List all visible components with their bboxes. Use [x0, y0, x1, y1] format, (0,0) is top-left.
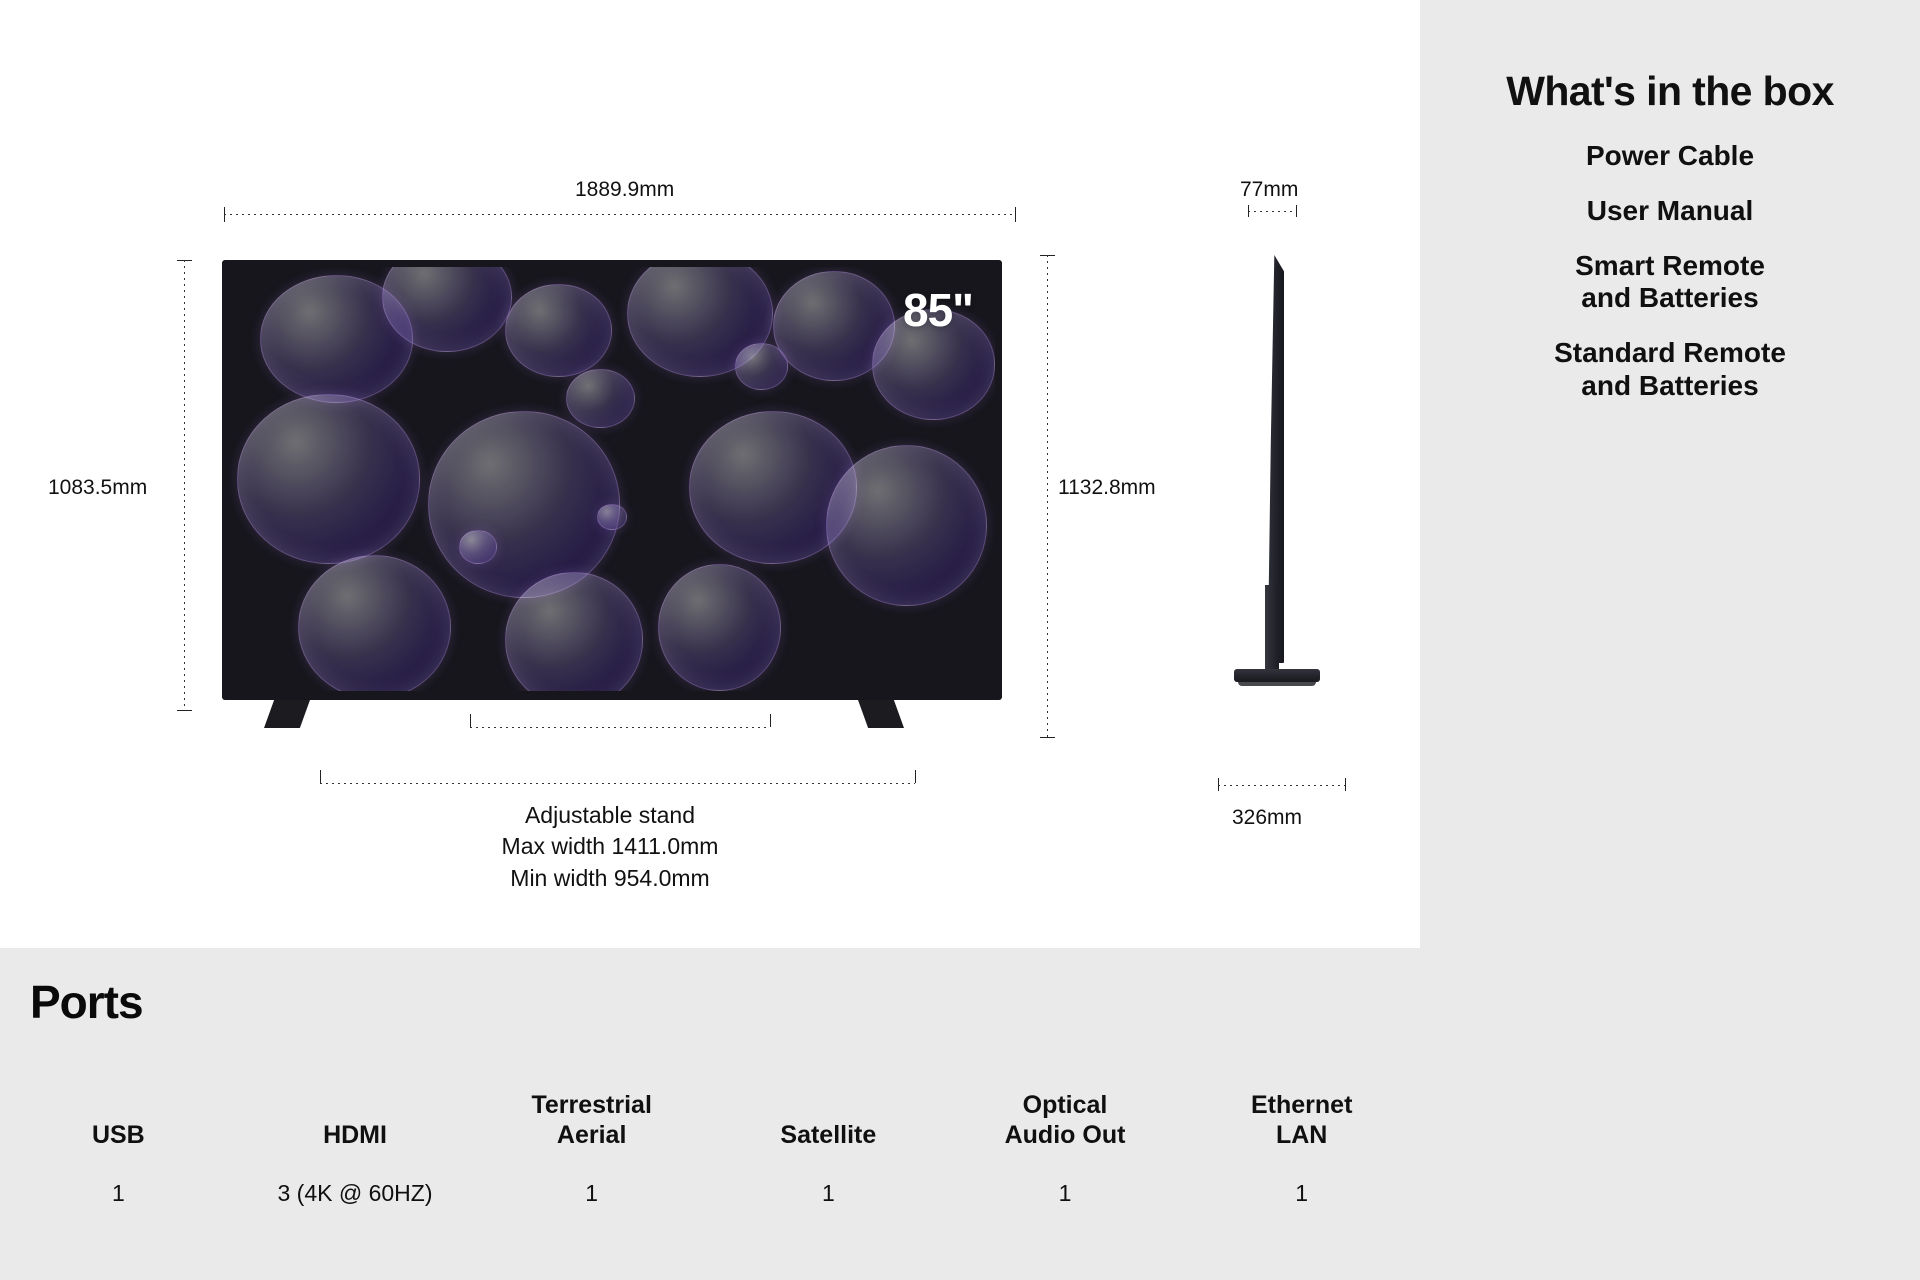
adjustable-stand-note: Adjustable stand Max width 1411.0mm Min …	[400, 800, 820, 894]
whats-in-the-box-list: Power Cable User Manual Smart Remote and…	[1420, 140, 1920, 425]
dimension-cap	[1015, 207, 1016, 222]
tv-side-stand-base-shadow	[1238, 680, 1316, 686]
port-column-optical-audio-out: Optical Audio Out 1	[947, 1088, 1184, 1207]
box-item: Smart Remote and Batteries	[1420, 250, 1920, 316]
ports-table: USB 1 HDMI 3 (4K @ 60HZ) Terrestrial Aer…	[0, 1088, 1420, 1207]
tv-stand-foot-left	[264, 700, 310, 728]
box-item: User Manual	[1420, 195, 1920, 228]
box-item: Power Cable	[1420, 140, 1920, 173]
port-column-terrestrial-aerial: Terrestrial Aerial 1	[473, 1088, 710, 1207]
port-value: 1	[951, 1180, 1180, 1207]
whats-in-the-box-panel: What's in the box Power Cable User Manua…	[1420, 0, 1920, 1280]
dimension-line-depth	[1248, 211, 1296, 212]
tv-front-view: 85"	[222, 260, 1002, 700]
port-value: 3 (4K @ 60HZ)	[241, 1180, 470, 1207]
port-column-hdmi: HDMI 3 (4K @ 60HZ)	[237, 1088, 474, 1207]
dimension-cap	[470, 714, 471, 727]
dimension-label-stand-depth: 326mm	[1232, 806, 1302, 830]
ports-title: Ports	[30, 975, 143, 1029]
dimension-line-stand-inner	[470, 727, 770, 728]
dimension-label-depth: 77mm	[1240, 178, 1298, 202]
dimension-cap	[1345, 778, 1346, 791]
dimension-label-total-height: 1132.8mm	[1058, 476, 1156, 500]
tv-stand-foot-right	[858, 700, 904, 728]
port-value: 1	[4, 1180, 233, 1207]
dimension-label-panel-height: 1083.5mm	[48, 476, 147, 500]
box-item: Standard Remote and Batteries	[1420, 337, 1920, 403]
ports-section: Ports USB 1 HDMI 3 (4K @ 60HZ) Terrestri…	[0, 948, 1420, 1280]
port-label: Terrestrial Aerial	[477, 1088, 706, 1150]
dimension-line-total-height	[1047, 255, 1048, 737]
tv-side-stand-neck	[1265, 585, 1279, 675]
dimension-cap	[1040, 737, 1055, 738]
port-column-ethernet-lan: Ethernet LAN 1	[1183, 1088, 1420, 1207]
whats-in-the-box-title: What's in the box	[1420, 68, 1920, 115]
dimension-cap	[770, 714, 771, 727]
port-value: 1	[1187, 1180, 1416, 1207]
port-label: Satellite	[714, 1088, 943, 1150]
port-label: Ethernet LAN	[1187, 1088, 1416, 1150]
product-spec-sheet: What's in the box Power Cable User Manua…	[0, 0, 1920, 1280]
dimension-line-stand-depth	[1218, 785, 1345, 786]
screen-size-badge: 85"	[903, 283, 973, 337]
tv-screen-artwork: 85"	[229, 267, 995, 691]
port-label: USB	[4, 1088, 233, 1150]
dimension-cap	[1296, 205, 1297, 217]
tv-bezel: 85"	[222, 260, 1002, 700]
port-value: 1	[477, 1180, 706, 1207]
dimension-cap	[177, 710, 192, 711]
port-column-satellite: Satellite 1	[710, 1088, 947, 1207]
tv-side-view	[1216, 255, 1346, 730]
dimension-label-width: 1889.9mm	[575, 178, 674, 202]
port-label: HDMI	[241, 1088, 470, 1150]
dimension-line-panel-height	[184, 260, 185, 710]
dimension-cap	[915, 770, 916, 783]
dimension-line-width	[224, 214, 1015, 215]
port-label: Optical Audio Out	[951, 1088, 1180, 1150]
port-column-usb: USB 1	[0, 1088, 237, 1207]
dimension-cap	[320, 770, 321, 783]
dimension-line-stand-outer	[320, 783, 915, 784]
port-value: 1	[714, 1180, 943, 1207]
